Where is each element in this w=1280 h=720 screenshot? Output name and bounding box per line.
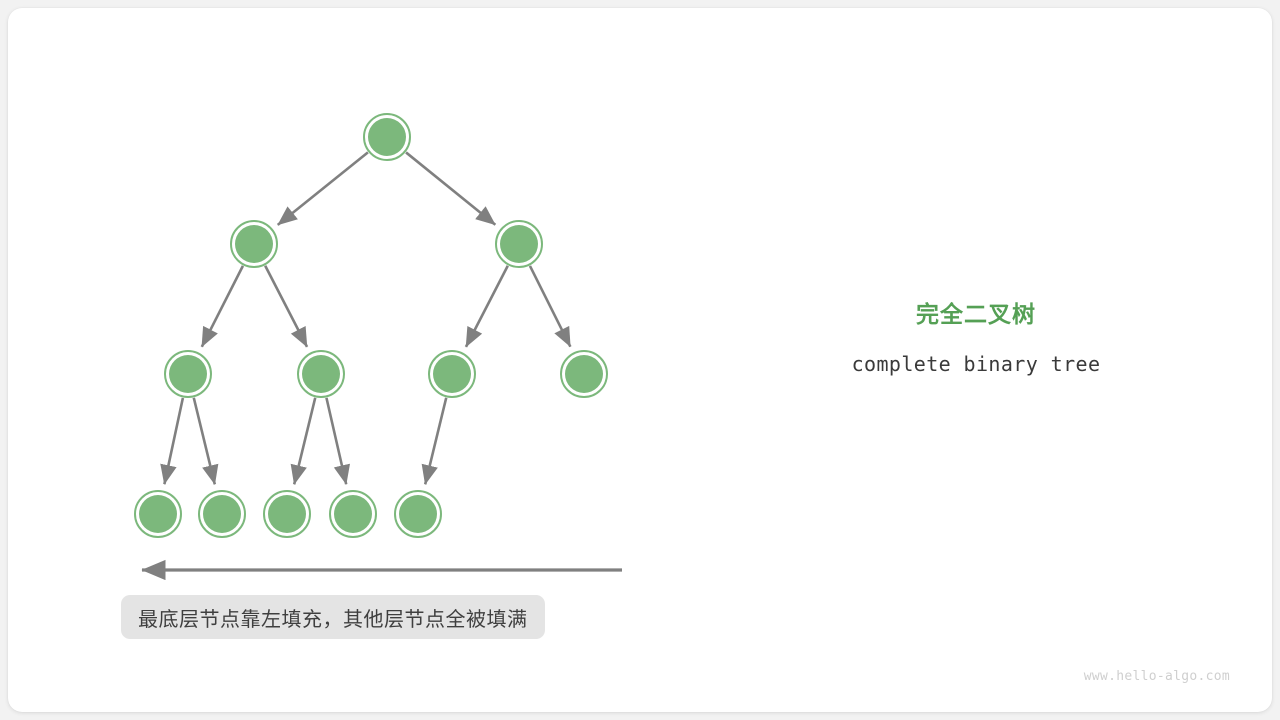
tree-node [165, 351, 211, 397]
caption-box: 最底层节点靠左填充，其他层节点全被填满 [121, 595, 545, 639]
legend-subtitle: complete binary tree [776, 352, 1176, 376]
tree-node-body [565, 355, 603, 393]
tree-edges [164, 152, 570, 484]
tree-edge [466, 266, 508, 347]
tree-node [199, 491, 245, 537]
tree-nodes [135, 114, 607, 537]
tree-node-body [139, 495, 177, 533]
tree-edge [425, 398, 446, 485]
tree-node [135, 491, 181, 537]
tree-node-body [500, 225, 538, 263]
tree-node [298, 351, 344, 397]
tree-edge [294, 398, 315, 485]
tree-edge [202, 266, 243, 347]
tree-edge [278, 152, 368, 225]
tree-node-body [169, 355, 207, 393]
tree-node-body [334, 495, 372, 533]
tree-edge [194, 398, 215, 485]
tree-node-body [302, 355, 340, 393]
tree-node-body [235, 225, 273, 263]
tree-node-body [399, 495, 437, 533]
tree-node [330, 491, 376, 537]
caption-text: 最底层节点靠左填充，其他层节点全被填满 [138, 603, 528, 632]
figure-card: 最底层节点靠左填充，其他层节点全被填满 完全二叉树 complete binar… [8, 8, 1272, 712]
tree-edge [406, 152, 495, 224]
legend-title: 完全二叉树 [776, 301, 1176, 330]
tree-node [496, 221, 542, 267]
watermark: www.hello-algo.com [1084, 669, 1230, 684]
tree-edge [326, 398, 346, 484]
tree-edge [164, 398, 182, 484]
tree-edge [265, 266, 307, 347]
tree-node [264, 491, 310, 537]
tree-node [561, 351, 607, 397]
tree-node [231, 221, 277, 267]
tree-node [364, 114, 410, 160]
tree-node-body [368, 118, 406, 156]
tree-node-body [268, 495, 306, 533]
tree-edge [530, 266, 570, 347]
legend-block: 完全二叉树 complete binary tree [776, 301, 1176, 376]
tree-node [395, 491, 441, 537]
tree-node [429, 351, 475, 397]
tree-node-body [203, 495, 241, 533]
tree-node-body [433, 355, 471, 393]
